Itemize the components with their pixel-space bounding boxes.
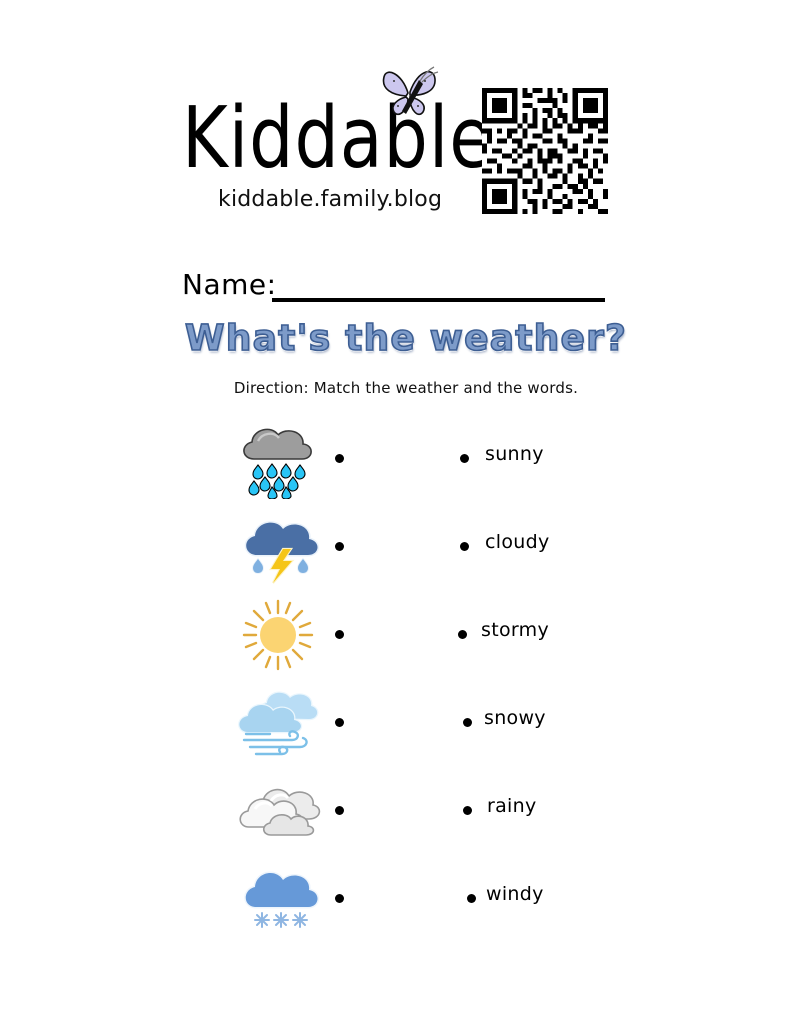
matching-exercise: sunny <box>0 415 790 945</box>
worksheet-page: Kiddable kiddable.family.blog <box>0 0 790 1023</box>
bullet-left[interactable] <box>335 630 344 639</box>
thunderstorm-cloud-icon[interactable] <box>232 503 324 591</box>
word-rainy[interactable]: rainy <box>487 795 537 817</box>
header: Kiddable kiddable.family.blog <box>0 55 790 225</box>
bullet-right[interactable] <box>460 454 469 463</box>
bullet-right[interactable] <box>458 630 467 639</box>
butterfly-icon <box>372 59 446 121</box>
bullet-right[interactable] <box>460 542 469 551</box>
wind-clouds-icon[interactable] <box>232 679 324 767</box>
word-snowy[interactable]: snowy <box>484 707 546 729</box>
name-field[interactable]: Name: <box>182 268 612 308</box>
word-stormy[interactable]: stormy <box>481 619 549 641</box>
page-title-text: What's the weather? <box>163 318 627 359</box>
bullet-left[interactable] <box>335 718 344 727</box>
name-label: Name: <box>182 268 277 302</box>
rain-cloud-icon[interactable] <box>232 415 324 503</box>
table-row: cloudy <box>0 503 790 591</box>
bullet-right[interactable] <box>463 718 472 727</box>
page-title: What's the weather? <box>0 318 790 359</box>
bullet-left[interactable] <box>335 806 344 815</box>
table-row: rainy <box>0 767 790 855</box>
brand-logo: Kiddable kiddable.family.blog <box>176 55 466 220</box>
bullet-left[interactable] <box>335 894 344 903</box>
table-row: windy <box>0 855 790 943</box>
table-row: stormy <box>0 591 790 679</box>
brand-url: kiddable.family.blog <box>218 188 442 212</box>
directions-text: Direction: Match the weather and the wor… <box>0 379 790 397</box>
word-windy[interactable]: windy <box>486 883 544 905</box>
bullet-right[interactable] <box>463 806 472 815</box>
bullet-left[interactable] <box>335 454 344 463</box>
bullet-right[interactable] <box>467 894 476 903</box>
snow-cloud-icon[interactable] <box>232 855 324 943</box>
name-input-line[interactable] <box>272 298 605 302</box>
bullet-left[interactable] <box>335 542 344 551</box>
table-row: sunny <box>0 415 790 503</box>
qr-code[interactable] <box>482 88 608 214</box>
word-cloudy[interactable]: cloudy <box>485 531 550 553</box>
table-row: snowy <box>0 679 790 767</box>
word-sunny[interactable]: sunny <box>485 443 544 465</box>
clouds-icon[interactable] <box>232 767 324 855</box>
sun-icon[interactable] <box>232 591 324 679</box>
